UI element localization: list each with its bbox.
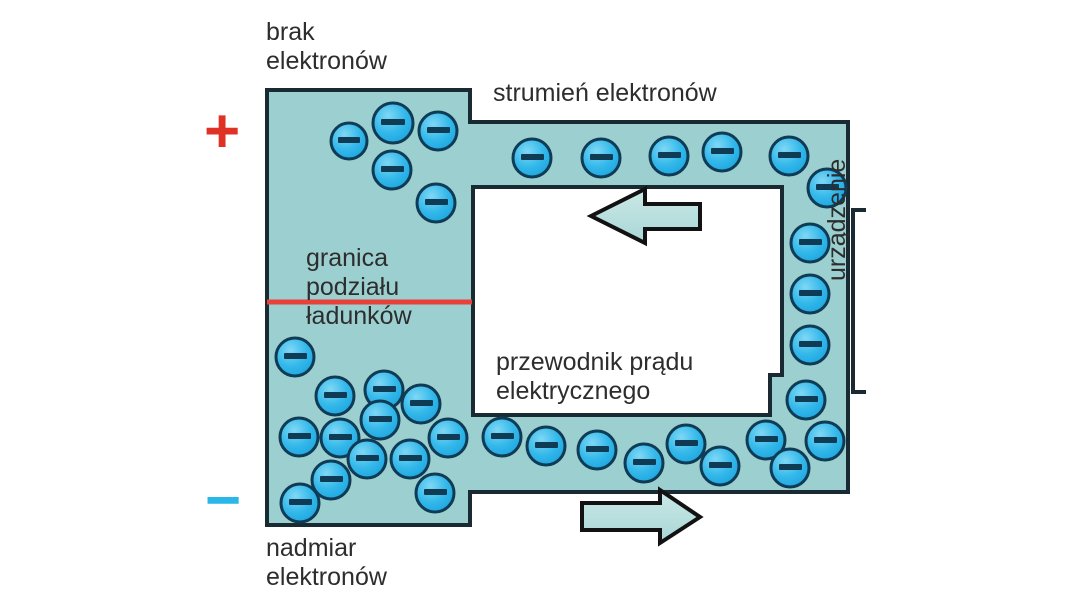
electron [791, 326, 829, 364]
device-bracket [853, 210, 866, 392]
electron [280, 418, 318, 456]
label-no-electrons: brak elektronów [266, 18, 387, 76]
electron [667, 425, 705, 463]
electron [361, 401, 399, 439]
electron [701, 447, 739, 485]
electron [419, 112, 457, 150]
electron [331, 123, 367, 159]
label-excess-electrons: nadmiar elektronów [266, 534, 387, 592]
electron [650, 137, 688, 175]
electron [276, 338, 314, 376]
electron [391, 440, 429, 478]
electron [373, 151, 411, 189]
electron [582, 139, 620, 177]
label-conductor: przewodnik prądu elektrycznego [496, 348, 693, 406]
electron [316, 377, 354, 415]
electron [483, 418, 521, 456]
electron [787, 381, 825, 419]
negative-terminal-sign: − [205, 470, 241, 532]
electron [373, 103, 413, 143]
conventional-current-arrow-right [582, 490, 700, 543]
electron [578, 431, 616, 469]
electron [625, 444, 663, 482]
electron [417, 184, 455, 222]
diagram-canvas: + − brak elektronów strumień elektronów … [0, 0, 1080, 607]
positive-terminal-sign: + [204, 101, 240, 163]
electron [806, 422, 844, 460]
electron [770, 137, 808, 175]
electron [416, 474, 454, 512]
electron [513, 139, 551, 177]
electron [771, 449, 809, 487]
label-electron-stream: strumień elektronów [493, 79, 717, 108]
electron [527, 427, 565, 465]
electron [402, 385, 440, 423]
label-charge-boundary: granica podziału ładunków [306, 244, 412, 331]
electron [429, 419, 467, 457]
label-device: urządzenie [823, 111, 852, 281]
electron [281, 484, 319, 522]
electron [703, 133, 741, 171]
electron [348, 440, 386, 478]
